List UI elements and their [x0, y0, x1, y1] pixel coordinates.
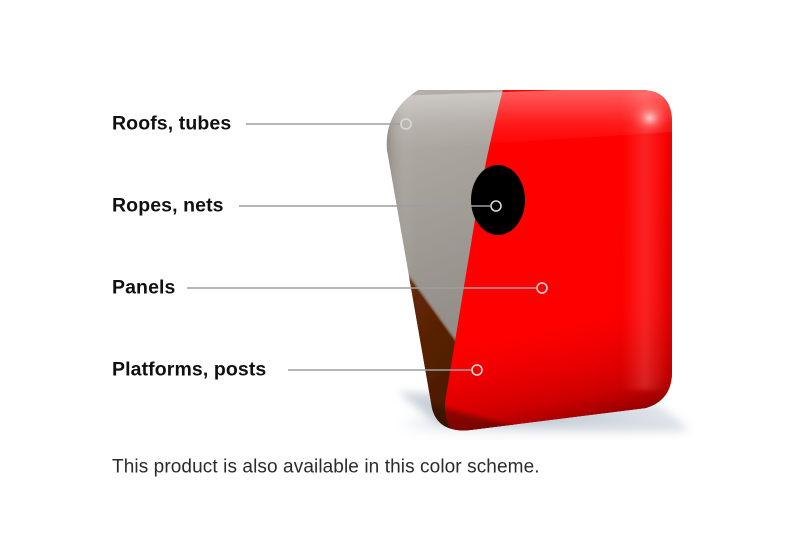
product-illustration: [0, 0, 800, 533]
callout-label-black-hole: Ropes, nets: [112, 196, 224, 216]
callout-label-brown-bottom-left: Platforms, posts: [112, 360, 266, 380]
left-edge-shade: [380, 86, 414, 442]
caption: This product is also available in this c…: [112, 458, 540, 477]
hole-circle: [471, 165, 525, 235]
callout-label-red-front: Panels: [112, 278, 175, 298]
product-body: [370, 78, 700, 446]
callout-label-grey-top-left: Roofs, tubes: [112, 114, 231, 134]
figure-canvas: Roofs, tubesRopes, netsPanelsPlatforms, …: [0, 0, 800, 533]
